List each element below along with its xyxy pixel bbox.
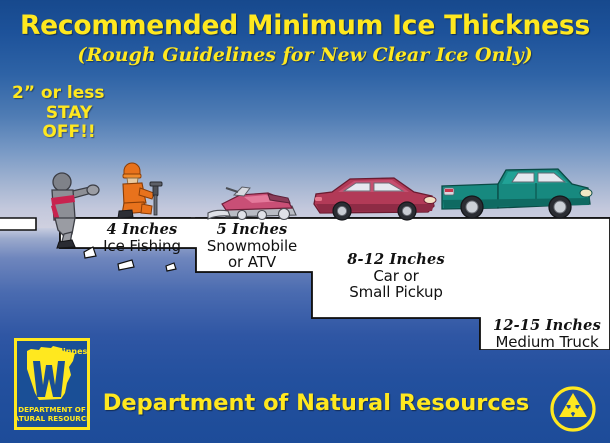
logo-dept-line-1: DEPARTMENT OF: [18, 405, 86, 414]
pickup-truck-icon: [436, 162, 596, 224]
ice-thickness-poster: Recommended Minimum Ice Thickness (Rough…: [0, 0, 610, 443]
warning-line-2: STAY: [8, 104, 130, 124]
stay-off-warning: 2” or less STAY OFF!!: [8, 84, 130, 143]
recycle-icon: [550, 386, 596, 432]
page-title: Recommended Minimum Ice Thickness: [0, 10, 610, 41]
thickness-value: 8-12 Inches: [328, 252, 464, 268]
ice-chunk-3: [166, 263, 176, 271]
thickness-value: 5 Inches: [196, 222, 308, 238]
logo-state-label: Minnesota: [55, 347, 87, 356]
activity-label-2: Small Pickup: [328, 284, 464, 300]
warning-line-1: 2” or less: [8, 84, 130, 104]
ice-fisherman-icon: [112, 160, 170, 222]
page-subtitle: (Rough Guidelines for New Clear Ice Only…: [0, 44, 610, 66]
step-label-car: 8-12 Inches Car or Small Pickup: [328, 252, 464, 300]
activity-label-2: or ATV: [196, 254, 308, 270]
warning-line-3: OFF!!: [8, 123, 130, 143]
logo-dept-line-2: NATURAL RESOURCES: [17, 414, 87, 423]
step-label-snowmobile: 5 Inches Snowmobile or ATV: [196, 222, 308, 270]
step-label-ice-fishing: 4 Inches Ice Fishing: [92, 222, 192, 254]
activity-label: Medium Truck: [486, 334, 608, 350]
sedan-car-icon: [310, 172, 438, 224]
footer-department-name: Department of Natural Resources: [96, 390, 536, 416]
minnesota-dnr-logo: Minnesota DEPARTMENT OF NATURAL RESOURCE…: [14, 338, 90, 430]
step-label-medium-truck: 12-15 Inches Medium Truck: [486, 318, 608, 350]
ice-chunk-2: [118, 260, 134, 270]
thickness-value: 4 Inches: [92, 222, 192, 238]
thickness-value: 12-15 Inches: [486, 318, 608, 334]
activity-label: Snowmobile: [196, 238, 308, 254]
activity-label: Car or: [328, 268, 464, 284]
snowmobile-icon: [196, 182, 308, 224]
activity-label: Ice Fishing: [92, 238, 192, 254]
